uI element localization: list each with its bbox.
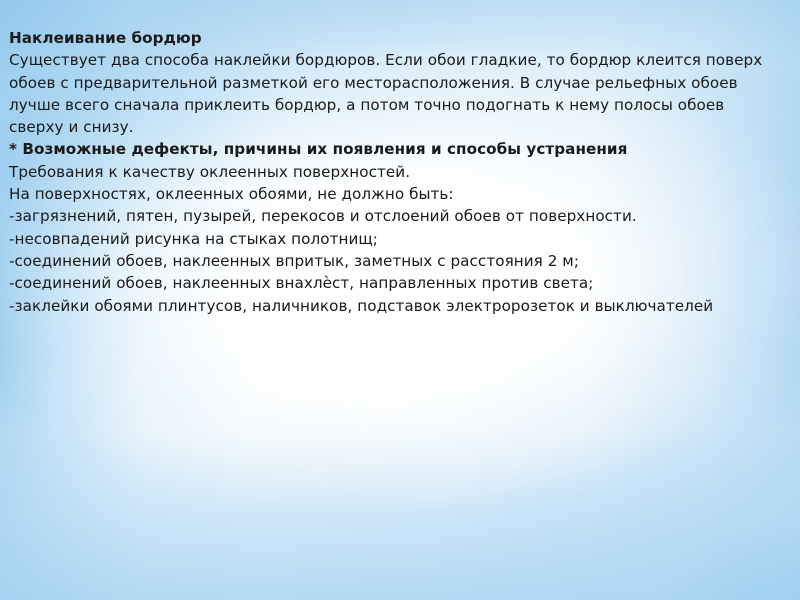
- list-item-4: -соединений обоев, наклеенных внахлѐст, …: [9, 272, 779, 294]
- list-item-3: -соединений обоев, наклеенных впритык, з…: [9, 250, 779, 272]
- paragraph-requirements: Требования к качеству оклеенных поверхно…: [9, 161, 779, 183]
- presentation-slide: Наклеивание бордюр Существует два способ…: [0, 0, 800, 600]
- slide-text-body: Наклеивание бордюр Существует два способ…: [9, 27, 779, 317]
- list-item-5: -заклейки обоями плинтусов, наличников, …: [9, 295, 779, 317]
- paragraph-must-not-have: На поверхностях, оклеенных обоями, не до…: [9, 183, 779, 205]
- list-item-1: -загрязнений, пятен, пузырей, перекосов …: [9, 205, 779, 227]
- paragraph-defects-heading: * Возможные дефекты, причины их появлени…: [9, 138, 779, 160]
- list-item-2: -несовпадений рисунка на стыках полотнищ…: [9, 228, 779, 250]
- paragraph-intro: Существует два способа наклейки бордюров…: [9, 49, 779, 138]
- slide-heading: Наклеивание бордюр: [9, 27, 779, 49]
